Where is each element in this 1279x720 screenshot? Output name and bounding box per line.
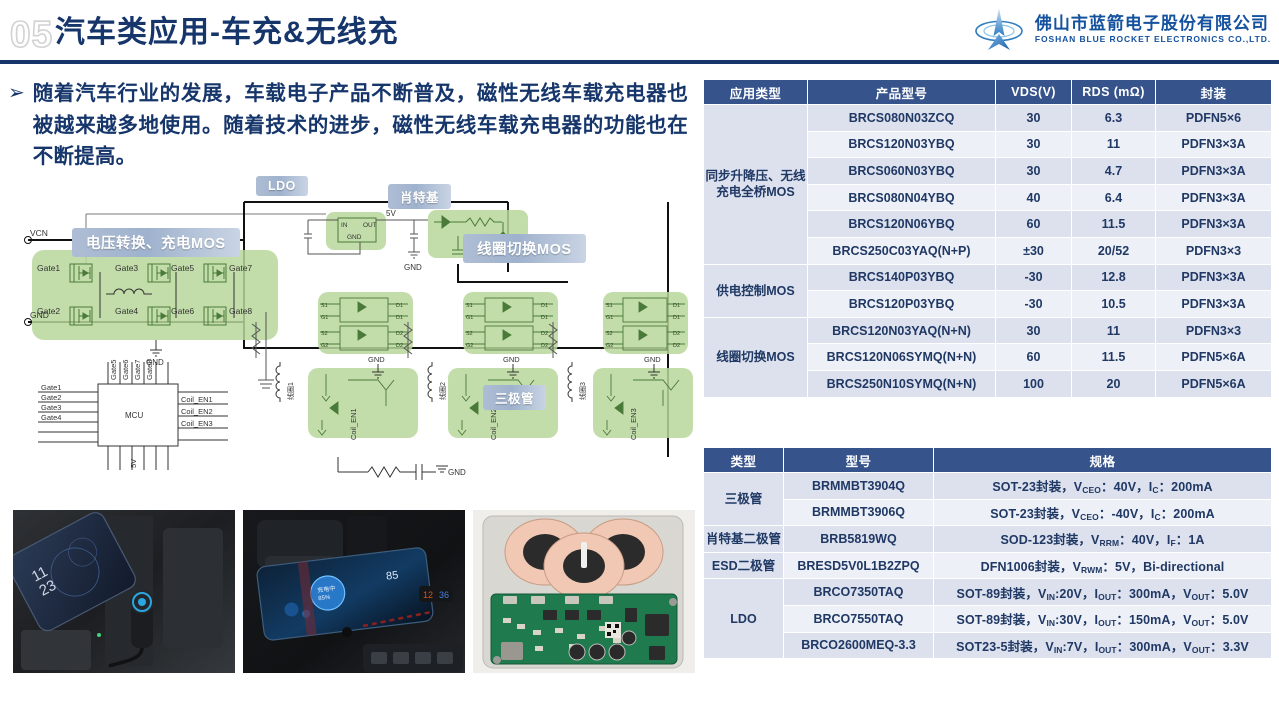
company-name-en: FOSHAN BLUE ROCKET ELECTRONICS CO.,LTD. xyxy=(1035,34,1271,45)
table-row: BRCO7550TAQ SOT-89封装，VIN:30V，IOUT：150mA，… xyxy=(704,605,1272,632)
cell-model: BRCO7350TAQ xyxy=(784,579,934,606)
svg-text:D2: D2 xyxy=(396,331,403,337)
cell-rds: 11 xyxy=(1072,317,1156,344)
cell-package: PDFN3×3A xyxy=(1156,184,1272,211)
cell-model: BRMMBT3906Q xyxy=(784,499,934,526)
svg-text:GND: GND xyxy=(404,263,422,272)
svg-text:Gate4: Gate4 xyxy=(115,306,138,316)
cell-package: PDFN3×3 xyxy=(1156,317,1272,344)
svg-text:VCN: VCN xyxy=(30,228,48,238)
svg-text:Gate6: Gate6 xyxy=(171,306,194,316)
cell-spec: SOT-89封装，VIN:30V，IOUT：150mA，VOUT：5.0V xyxy=(934,605,1272,632)
cell-rds: 11 xyxy=(1072,131,1156,158)
diagram-callout-coil-switch-mos: 线圈切换MOS xyxy=(463,234,586,263)
col-rds: RDS (mΩ) xyxy=(1072,80,1156,105)
svg-text:D2: D2 xyxy=(541,331,548,337)
col-model: 型号 xyxy=(784,448,934,473)
group-label-esd-diode: ESD二极管 xyxy=(704,552,784,579)
diagram-callout-transistor: 三极管 xyxy=(483,385,546,410)
svg-text:Coil_EN2: Coil_EN2 xyxy=(181,407,213,416)
group-label-ldo: LDO xyxy=(704,579,784,659)
svg-text:Coil_EN1: Coil_EN1 xyxy=(349,408,358,440)
svg-text:Gate3: Gate3 xyxy=(115,263,138,273)
cell-rds: 10.5 xyxy=(1072,291,1156,318)
blue-rocket-logo-icon xyxy=(971,6,1027,52)
table-row: 三极管 BRMMBT3904Q SOT-23封装，VCEO：40V，IC：200… xyxy=(704,473,1272,500)
svg-text:OUT: OUT xyxy=(363,222,377,229)
svg-text:Gate2: Gate2 xyxy=(41,393,61,402)
table-row: BRCO2600MEQ-3.3 SOT23-5封装，VIN:7V，IOUT：30… xyxy=(704,632,1272,659)
svg-text:5V: 5V xyxy=(386,209,396,218)
cell-vds: 30 xyxy=(996,317,1072,344)
svg-text:Gate5: Gate5 xyxy=(171,263,194,273)
svg-text:D1: D1 xyxy=(673,303,680,309)
table-row: 线圈切换MOS BRCS120N03YAQ(N+N) 30 11 PDFN3×3 xyxy=(704,317,1272,344)
car-usb-charger-photo: 11 23 xyxy=(13,510,235,673)
col-vds: VDS(V) xyxy=(996,80,1072,105)
svg-text:D2: D2 xyxy=(673,331,680,337)
svg-text:Gate8: Gate8 xyxy=(145,360,154,380)
svg-text:GND: GND xyxy=(347,234,362,241)
cell-rds: 6.4 xyxy=(1072,184,1156,211)
svg-text:D1: D1 xyxy=(541,315,548,321)
svg-text:Coil_EN2: Coil_EN2 xyxy=(489,408,498,440)
group-label-coil-switch-mos: 线圈切换MOS xyxy=(704,317,808,397)
cell-rds: 12.8 xyxy=(1072,264,1156,291)
svg-text:IN: IN xyxy=(341,222,348,229)
cell-spec: SOT-23封装，VCEO：40V，IC：200mA xyxy=(934,473,1272,500)
svg-text:85: 85 xyxy=(385,569,399,582)
cell-vds: -30 xyxy=(996,264,1072,291)
svg-text:5V: 5V xyxy=(129,459,138,468)
intro-paragraph: 随着汽车行业的发展，车载电子产品不断普及，磁性无线车载充电器也被越来越多地使用。… xyxy=(33,78,688,173)
svg-text:S2: S2 xyxy=(321,331,328,337)
cell-model: BRCS060N03YBQ xyxy=(808,158,996,185)
cell-model: BRCS120N03YBQ xyxy=(808,131,996,158)
diagram-callout-ldo: LDO xyxy=(256,176,308,196)
cell-model: BRCS120P03YBQ xyxy=(808,291,996,318)
svg-text:GND: GND xyxy=(368,355,385,364)
cell-spec: SOT23-5封装，VIN:7V，IOUT：300mA，VOUT：3.3V xyxy=(934,632,1272,659)
svg-text:Gate3: Gate3 xyxy=(41,403,61,412)
cell-vds: 30 xyxy=(996,158,1072,185)
svg-text:G1: G1 xyxy=(321,315,328,321)
cell-model: BRB5819WQ xyxy=(784,526,934,553)
company-logo: 佛山市蓝箭电子股份有限公司 FOSHAN BLUE ROCKET ELECTRO… xyxy=(971,5,1271,53)
cell-model: BRCS250C03YAQ(N+P) xyxy=(808,237,996,264)
svg-text:GND: GND xyxy=(448,468,466,477)
table-row: LDO BRCO7350TAQ SOT-89封装，VIN:20V，IOUT：30… xyxy=(704,579,1272,606)
cell-model: BRCO7550TAQ xyxy=(784,605,934,632)
svg-text:D1: D1 xyxy=(541,303,548,309)
svg-text:S1: S1 xyxy=(321,303,328,309)
svg-text:G2: G2 xyxy=(606,343,613,349)
cell-rds: 4.7 xyxy=(1072,158,1156,185)
cell-package: PDFN5×6 xyxy=(1156,105,1272,132)
svg-text:线圈2: 线圈2 xyxy=(438,382,447,400)
svg-text:MCU: MCU xyxy=(125,411,143,420)
cell-package: PDFN5×6A xyxy=(1156,344,1272,371)
cell-rds: 20 xyxy=(1072,370,1156,397)
svg-text:Gate7: Gate7 xyxy=(133,360,142,380)
svg-text:D1: D1 xyxy=(673,315,680,321)
cell-package: PDFN3×3 xyxy=(1156,237,1272,264)
cell-rds: 6.3 xyxy=(1072,105,1156,132)
col-type: 类型 xyxy=(704,448,784,473)
cell-vds: ±30 xyxy=(996,237,1072,264)
cell-vds: 60 xyxy=(996,344,1072,371)
cell-spec: SOT-23封装，VCEO：-40V，IC：200mA xyxy=(934,499,1272,526)
cell-spec: SOT-89封装，VIN:20V，IOUT：300mA，VOUT：5.0V xyxy=(934,579,1272,606)
mos-product-table: 应用类型 产品型号 VDS(V) RDS (mΩ) 封装 同步升降压、无线充电全… xyxy=(703,79,1272,398)
section-number: 05 xyxy=(10,16,53,53)
cell-package: PDFN3×3A xyxy=(1156,131,1272,158)
cell-package: PDFN3×3A xyxy=(1156,211,1272,238)
group-label-transistor: 三极管 xyxy=(704,473,784,526)
svg-text:D2: D2 xyxy=(541,343,548,349)
svg-text:Gate4: Gate4 xyxy=(41,413,61,422)
cell-vds: 100 xyxy=(996,370,1072,397)
col-spec: 规格 xyxy=(934,448,1272,473)
cell-model: BRCS120N06YBQ xyxy=(808,211,996,238)
svg-text:GND: GND xyxy=(30,310,49,320)
cell-model: BRCO2600MEQ-3.3 xyxy=(784,632,934,659)
svg-text:D2: D2 xyxy=(396,343,403,349)
table-row: 肖特基二极管 BRB5819WQ SOD-123封装，VRRM：40V，IF：1… xyxy=(704,526,1272,553)
slide-root: 05 汽车类应用-车充&无线充 xyxy=(0,0,1279,720)
svg-text:D1: D1 xyxy=(396,315,403,321)
table-row: 同步升降压、无线充电全桥MOS BRCS080N03ZCQ 30 6.3 PDF… xyxy=(704,105,1272,132)
cell-vds: 30 xyxy=(996,131,1072,158)
svg-text:Gate6: Gate6 xyxy=(121,360,130,380)
svg-text:S1: S1 xyxy=(466,303,473,309)
intro-bullet: ➢ 随着汽车行业的发展，车载电子产品不断普及，磁性无线车载充电器也被越来越多地使… xyxy=(8,78,688,173)
svg-text:12: 12 xyxy=(423,590,433,600)
cell-package: PDFN3×3A xyxy=(1156,264,1272,291)
diagram-callout-schottky: 肖特基 xyxy=(388,184,451,209)
cell-model: BRCS140P03YBQ xyxy=(808,264,996,291)
table-row: BRMMBT3906Q SOT-23封装，VCEO：-40V，IC：200mA xyxy=(704,499,1272,526)
cell-model: BRMMBT3904Q xyxy=(784,473,934,500)
svg-text:Coil_EN3: Coil_EN3 xyxy=(629,408,638,440)
table-header-row: 应用类型 产品型号 VDS(V) RDS (mΩ) 封装 xyxy=(704,80,1272,105)
cell-vds: 30 xyxy=(996,105,1072,132)
diagram-callout-voltage-conversion-mos: 电压转换、充电MOS xyxy=(72,228,240,257)
svg-text:G1: G1 xyxy=(466,315,473,321)
svg-text:线圈1: 线圈1 xyxy=(286,382,295,400)
cell-vds: 40 xyxy=(996,184,1072,211)
cell-model: BRCS120N03YAQ(N+N) xyxy=(808,317,996,344)
svg-text:Coil_EN3: Coil_EN3 xyxy=(181,419,213,428)
bullet-arrow-icon: ➢ xyxy=(8,78,25,173)
col-application-type: 应用类型 xyxy=(704,80,808,105)
photo-strip: 11 23 xyxy=(13,510,695,673)
wireless-charging-console-photo: 充电中 85% 85 12 36 xyxy=(243,510,465,673)
svg-text:D1: D1 xyxy=(396,303,403,309)
cell-vds: 60 xyxy=(996,211,1072,238)
cell-package: PDFN3×3A xyxy=(1156,291,1272,318)
group-label-schottky-diode: 肖特基二极管 xyxy=(704,526,784,553)
slide-header: 05 汽车类应用-车充&无线充 xyxy=(0,0,1279,63)
svg-text:线圈3: 线圈3 xyxy=(578,382,587,400)
cell-model: BRESD5V0L1B2ZPQ xyxy=(784,552,934,579)
cell-rds: 20/52 xyxy=(1072,237,1156,264)
cell-rds: 11.5 xyxy=(1072,344,1156,371)
svg-text:S2: S2 xyxy=(466,331,473,337)
cell-model: BRCS250N10SYMQ(N+N) xyxy=(808,370,996,397)
svg-text:Gate7: Gate7 xyxy=(229,263,252,273)
svg-text:G1: G1 xyxy=(606,315,613,321)
discrete-product-table: 类型 型号 规格 三极管 BRMMBT3904Q SOT-23封装，VCEO：4… xyxy=(703,447,1272,659)
cell-vds: -30 xyxy=(996,291,1072,318)
svg-text:Gate1: Gate1 xyxy=(41,383,61,392)
svg-text:Gate5: Gate5 xyxy=(109,360,118,380)
col-package: 封装 xyxy=(1156,80,1272,105)
svg-text:S2: S2 xyxy=(606,331,613,337)
svg-text:S1: S1 xyxy=(606,303,613,309)
table-row: ESD二极管 BRESD5V0L1B2ZPQ DFN1006封装，VRWM：5V… xyxy=(704,552,1272,579)
cell-package: PDFN3×3A xyxy=(1156,158,1272,185)
group-label-power-control-mos: 供电控制MOS xyxy=(704,264,808,317)
cell-model: BRCS120N06SYMQ(N+N) xyxy=(808,344,996,371)
page-title: 汽车类应用-车充&无线充 xyxy=(55,14,399,52)
wireless-car-charger-block-diagram: Gate1Gate2 Gate3Gate4 Gate5Gate6 Gate7Ga… xyxy=(8,172,696,497)
svg-text:Gate1: Gate1 xyxy=(37,263,60,273)
group-label-sync-buckboost: 同步升降压、无线充电全桥MOS xyxy=(704,105,808,265)
svg-text:G2: G2 xyxy=(321,343,328,349)
cell-spec: DFN1006封装，VRWM：5V，Bi-directional xyxy=(934,552,1272,579)
svg-text:D2: D2 xyxy=(673,343,680,349)
header-divider xyxy=(0,60,1279,64)
svg-text:GND: GND xyxy=(644,355,661,364)
wireless-charger-pcb-photo xyxy=(473,510,695,673)
svg-text:Coil_EN1: Coil_EN1 xyxy=(181,395,213,404)
table-row: 供电控制MOS BRCS140P03YBQ -30 12.8 PDFN3×3A xyxy=(704,264,1272,291)
cell-model: BRCS080N03ZCQ xyxy=(808,105,996,132)
cell-model: BRCS080N04YBQ xyxy=(808,184,996,211)
company-name-cn: 佛山市蓝箭电子股份有限公司 xyxy=(1035,14,1271,34)
cell-spec: SOD-123封装，VRRM：40V，IF：1A xyxy=(934,526,1272,553)
svg-text:G2: G2 xyxy=(466,343,473,349)
col-product-model: 产品型号 xyxy=(808,80,996,105)
table-header-row: 类型 型号 规格 xyxy=(704,448,1272,473)
cell-package: PDFN5×6A xyxy=(1156,370,1272,397)
svg-text:GND: GND xyxy=(503,355,520,364)
svg-text:Gate8: Gate8 xyxy=(229,306,252,316)
svg-text:36: 36 xyxy=(439,590,449,600)
cell-rds: 11.5 xyxy=(1072,211,1156,238)
